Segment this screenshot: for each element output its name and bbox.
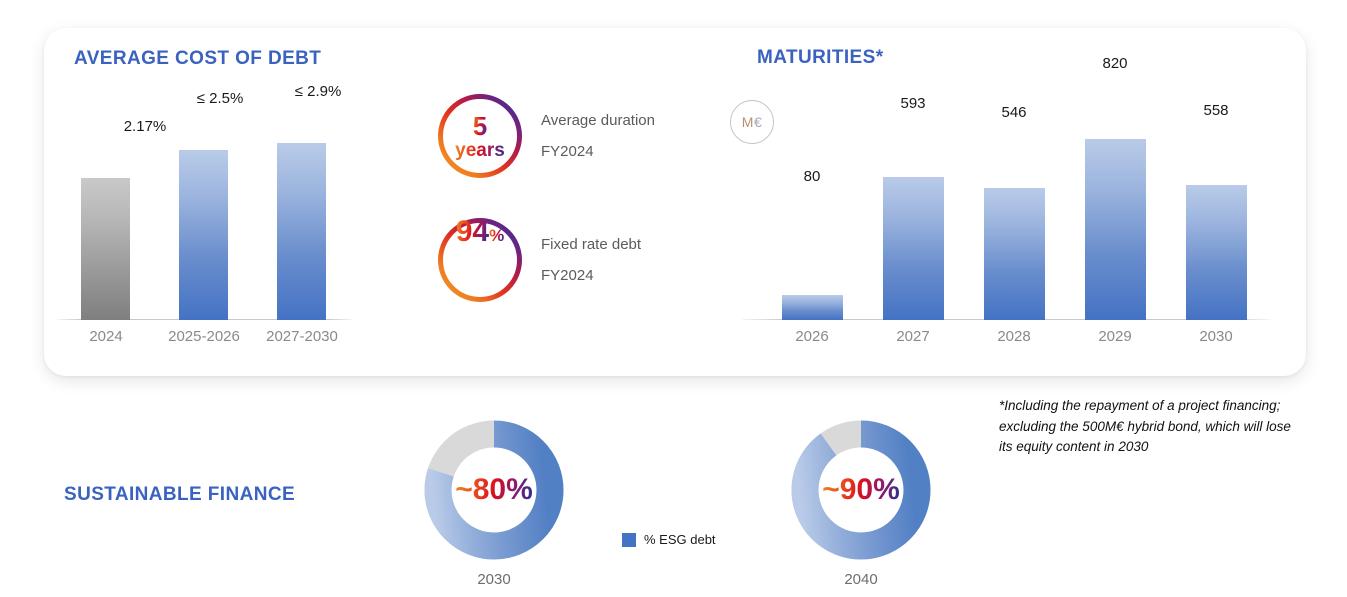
esg-donut-2030: ~80% 2030 <box>419 415 569 565</box>
infographic-page: AVERAGE COST OF DEBT 2.17% 2024 ≤ 2.5% 2… <box>0 0 1347 597</box>
kpi-ring-average-duration: 5 years <box>437 93 523 179</box>
bar-column-2028 <box>984 188 1045 320</box>
bar-column-2027 <box>883 177 944 320</box>
bar-column-2030 <box>1186 185 1247 320</box>
bar-2029 <box>1085 139 1146 320</box>
bar-2024 <box>81 178 130 320</box>
maturities-title: MATURITIES* <box>757 47 884 69</box>
bar-category-2030: 2030 <box>1181 328 1251 345</box>
sustainable-finance-title: SUSTAINABLE FINANCE <box>64 484 295 506</box>
cost-of-debt-title: AVERAGE COST OF DEBT <box>74 48 321 70</box>
bar-category-2025-2026: 2025-2026 <box>161 328 247 345</box>
kpi-label-duration-line1: Average duration <box>541 113 655 128</box>
bar-column-2027-2030 <box>277 143 326 320</box>
unit-badge-m: M <box>742 114 754 130</box>
bar-value-2030: 558 <box>1181 102 1251 119</box>
maturities-footnote: *Including the repayment of a project fi… <box>999 396 1291 458</box>
bar-category-2024: 2024 <box>70 328 142 345</box>
bar-category-2028: 2028 <box>979 328 1049 345</box>
kpi-unit-fixed-rate: % <box>489 227 504 244</box>
kpi-fixed-rate-debt: 94 % Fixed rate debt FY2024 <box>437 217 641 303</box>
cost-of-debt-bar-chart: 2.17% 2024 ≤ 2.5% 2025-2026 ≤ 2.9% 2027-… <box>57 140 353 320</box>
bar-value-2026: 80 <box>777 168 847 185</box>
bar-value-2027: 593 <box>878 95 948 112</box>
kpi-label-fixed-line1: Fixed rate debt <box>541 237 641 252</box>
esg-donut-2030-center: ~80% <box>419 415 569 565</box>
kpi-label-average-duration: Average duration FY2024 <box>541 113 655 159</box>
bar-value-2025-2026: ≤ 2.5% <box>175 90 265 107</box>
kpi-average-duration: 5 years Average duration FY2024 <box>437 93 655 179</box>
bar-category-2029: 2029 <box>1080 328 1150 345</box>
bar-column-2029 <box>1085 139 1146 320</box>
bar-category-2026: 2026 <box>777 328 847 345</box>
kpi-unit-duration: years <box>455 141 505 160</box>
kpi-label-duration-line2: FY2024 <box>541 144 655 159</box>
bar-2027-2030 <box>277 143 326 320</box>
bar-value-2027-2030: ≤ 2.9% <box>273 83 363 100</box>
bar-2026 <box>782 295 843 320</box>
esg-donut-2040-caption: 2040 <box>786 571 936 588</box>
esg-donut-2030-caption: 2030 <box>419 571 569 588</box>
kpi-ring-average-duration-content: 5 years <box>437 93 523 179</box>
kpi-label-fixed-rate-debt: Fixed rate debt FY2024 <box>541 237 641 283</box>
legend-swatch-esg-debt <box>622 533 636 547</box>
kpi-ring-fixed-rate-debt-content: 94 % <box>437 217 523 303</box>
bar-category-2027-2030: 2027-2030 <box>259 328 345 345</box>
bar-column-2024 <box>81 178 130 320</box>
currency-unit-badge: M€ <box>730 100 774 144</box>
bar-2028 <box>984 188 1045 320</box>
unit-badge-euro: € <box>754 114 762 130</box>
esg-legend: % ESG debt <box>622 532 716 547</box>
bar-column-2025-2026 <box>179 150 228 320</box>
bar-category-2027: 2027 <box>878 328 948 345</box>
esg-donut-2030-value: ~80% <box>455 475 533 505</box>
bar-2027 <box>883 177 944 320</box>
kpi-value-fixed-rate: 94 <box>456 217 489 247</box>
bar-value-2029: 820 <box>1080 55 1150 72</box>
legend-label-esg-debt: % ESG debt <box>644 532 716 547</box>
bar-value-2028: 546 <box>979 104 1049 121</box>
kpi-ring-fixed-rate-debt: 94 % <box>437 217 523 303</box>
bar-value-2024: 2.17% <box>115 118 175 135</box>
bar-2030 <box>1186 185 1247 320</box>
bar-2025-2026 <box>179 150 228 320</box>
maturities-bar-chart: 80 2026 593 2027 546 2028 820 2029 558 2… <box>742 140 1270 320</box>
kpi-label-fixed-line2: FY2024 <box>541 268 641 283</box>
esg-donut-2040: ~90% 2040 <box>786 415 936 565</box>
esg-donut-2040-center: ~90% <box>786 415 936 565</box>
kpi-value-duration: 5 <box>473 113 487 139</box>
esg-donut-2040-value: ~90% <box>822 475 900 505</box>
bar-column-2026 <box>782 295 843 320</box>
